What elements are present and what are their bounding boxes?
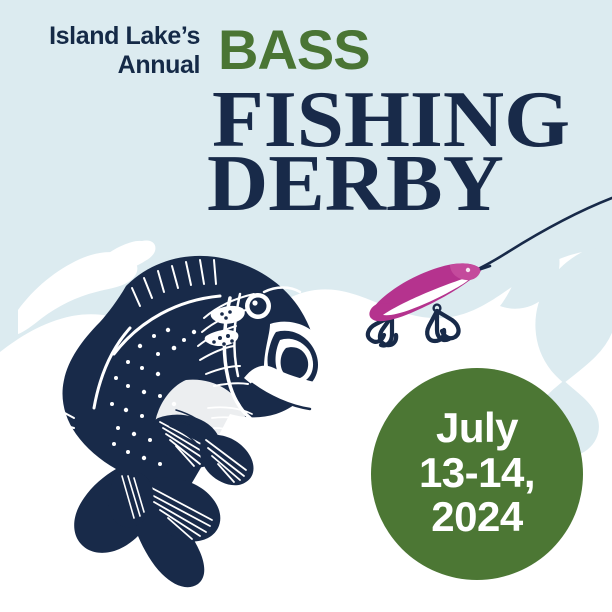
date-line-1: July: [419, 406, 535, 451]
title-word-bass: BASS: [218, 22, 370, 78]
lure-eye: [466, 268, 470, 272]
date-line-2: 13-14,: [419, 451, 535, 496]
title-word-derby: DERBY: [207, 146, 504, 223]
date-badge-text: July 13-14, 2024: [419, 406, 535, 543]
kicker-line-1: Island Lake’s: [49, 22, 200, 50]
poster-canvas: Island Lake’s Annual BASS FISHING DERBY: [0, 0, 612, 612]
event-kicker: Island Lake’s Annual: [0, 22, 200, 80]
date-badge: July 13-14, 2024: [371, 368, 583, 580]
kicker-line-2: Annual: [118, 51, 200, 79]
treble-hook-front: [427, 311, 458, 341]
title-word-derby-text: DERBY: [207, 146, 504, 223]
date-line-3: 2024: [419, 495, 535, 540]
